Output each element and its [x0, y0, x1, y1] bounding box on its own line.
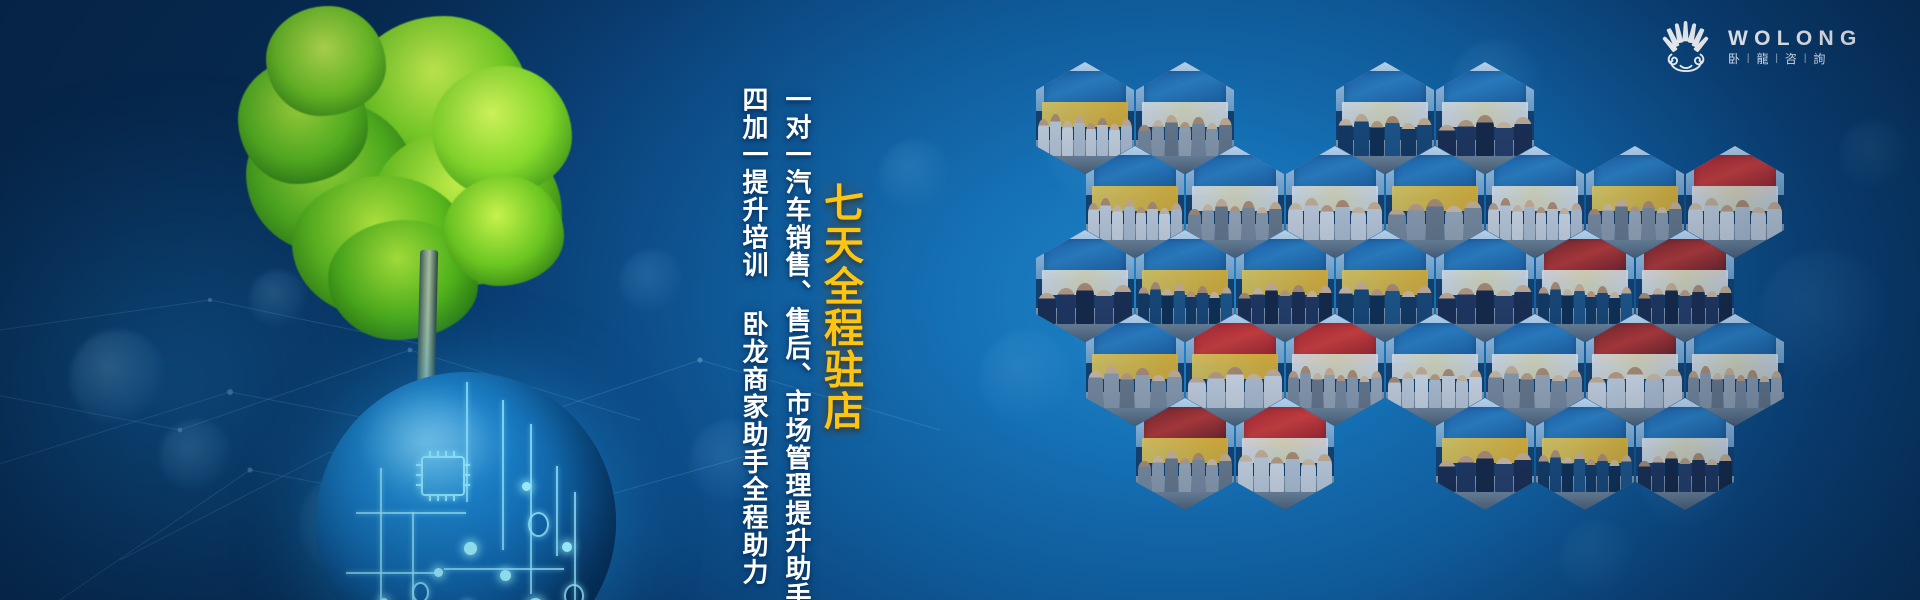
- promo-banner: 七天全程驻店 一对一汽车销售、售后、市场管理提升助手 四加一提升培训 卧龙商家助…: [0, 0, 1920, 600]
- brand-cn-separator: |: [1804, 54, 1809, 64]
- page-title: 七天全程驻店: [820, 182, 860, 432]
- brand-cn-separator: |: [1775, 54, 1780, 64]
- brand-cn-char: 詢: [1813, 53, 1827, 65]
- brand-cn-char: 咨: [1785, 53, 1799, 65]
- brand-logo: WOLONG 卧|龍|咨|詢: [1658, 14, 1896, 78]
- tree-canopy: [232, 6, 592, 336]
- wolong-shell-emblem: [1658, 17, 1714, 75]
- brand-cn-char: 龍: [1756, 53, 1770, 65]
- brand-name-en: WOLONG: [1728, 28, 1863, 49]
- tree-illustration: [232, 0, 652, 600]
- cpu-chip-icon: [421, 456, 465, 496]
- subheading-line-2: 四加一提升培训 卧龙商家助手全程助力: [741, 86, 767, 586]
- subheading-line-1: 一对一汽车销售、售后、市场管理提升助手: [784, 86, 810, 600]
- brand-cn-separator: |: [1747, 54, 1752, 64]
- circuit-board-globe: [316, 372, 616, 600]
- hexagon-photo-grid: [1036, 62, 1736, 522]
- brand-name-cn: 卧|龍|咨|詢: [1728, 53, 1863, 65]
- brand-cn-char: 卧: [1728, 53, 1742, 65]
